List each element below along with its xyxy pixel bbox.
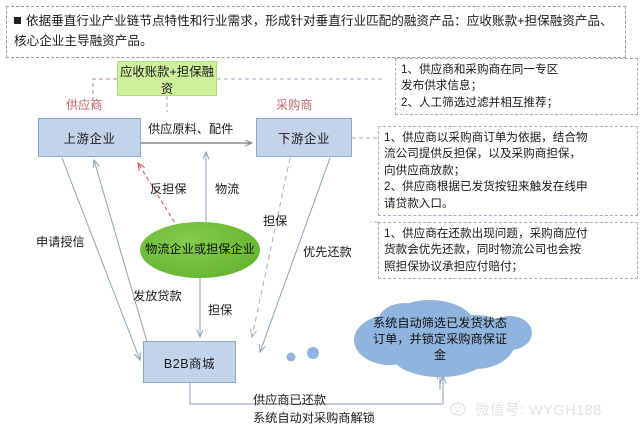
edge-label-issue-loan: 发放贷款: [133, 289, 182, 304]
note-lending-line-3: 向供应商放款；: [384, 163, 633, 179]
node-downstream-enterprise: 下游企业: [256, 118, 352, 157]
cloud-bubble-small: [287, 353, 296, 362]
node-b2b-mall: B2B商城: [143, 341, 236, 383]
watermark-text: 微信号: WYGH188: [475, 399, 602, 420]
edge-label-supply-material: 供应原料、配件: [148, 122, 233, 137]
note-matching-line-1: 1、供应商和采购商在同一专区: [401, 62, 633, 78]
bottom-note-line-2: 系统自动对采购商解锁: [253, 410, 375, 428]
wechat-icon: [450, 402, 470, 418]
node-logistics-guarantee: 物流企业或担保企业: [140, 222, 260, 278]
node-upstream-enterprise: 上游企业: [38, 118, 141, 157]
product-box-label: 应收账款+担保融资: [120, 65, 214, 96]
node-b2b-label: B2B商城: [164, 353, 215, 372]
note-matching: 1、供应商和采购商在同一专区 发布供求信息； 2、人工筛选过滤并相互推荐；: [395, 58, 638, 115]
note-lending-line-4: 2、供应商根据已发货按钮来触发在线申: [384, 179, 633, 195]
product-box: 应收账款+担保融资: [117, 61, 217, 96]
note-lending-line-1: 1、供应商以采购商订单为依据，结合物: [384, 130, 633, 146]
bottom-note: 供应商已还款 系统自动对采购商解锁: [253, 392, 375, 427]
note-repayment: 1、供应商在还款出现问题，采购商应付 货款会优先还款，同时物流公司也会按 照担保…: [378, 222, 638, 279]
edge-label-guarantee-down: 担保: [208, 303, 232, 318]
diagram-page: 依据垂直行业产业链节点特性和行业需求，形成针对垂直行业匹配的融资产品：应收账款+…: [0, 0, 640, 437]
note-lending-line-5: 请贷款入口。: [384, 196, 633, 212]
node-upstream-label: 上游企业: [63, 128, 115, 147]
cloud-callout: 系统自动筛选已发货状态订单，并锁定采购商保证金: [345, 300, 535, 380]
note-lending-line-2: 流公司提供反担保，以及采购商担保，: [384, 146, 633, 162]
bottom-note-line-1: 供应商已还款: [253, 392, 375, 410]
note-repayment-line-3: 照担保协议承担应付赔付；: [384, 259, 633, 275]
node-logistics-label: 物流企业或担保企业: [145, 242, 255, 257]
note-lending: 1、供应商以采购商订单为依据，结合物 流公司提供反担保，以及采购商担保， 向供应…: [378, 126, 638, 216]
note-matching-line-3: 2、人工筛选过滤并相互推荐；: [401, 95, 633, 111]
edge-label-logistics: 物流: [215, 182, 239, 197]
edge-label-apply-credit: 申请授信: [36, 235, 85, 250]
node-downstream-label: 下游企业: [278, 128, 330, 147]
note-repayment-line-2: 货款会优先还款，同时物流公司也会按: [384, 242, 633, 258]
role-label-supplier: 供应商: [66, 98, 103, 113]
edge-label-counter-guarantee: 反担保: [150, 182, 187, 197]
note-repayment-line-1: 1、供应商在还款出现问题，采购商应付: [384, 226, 633, 242]
cloud-callout-text: 系统自动筛选已发货状态订单，并锁定采购商保证金: [345, 300, 535, 380]
cloud-bubble-medium: [307, 347, 319, 359]
edge-label-guarantee-right: 担保: [263, 214, 287, 229]
role-label-purchaser: 采购商: [276, 98, 313, 113]
edge-label-priority-repay: 优先还款: [303, 245, 352, 260]
note-matching-line-2: 发布供求信息；: [401, 78, 633, 94]
watermark: 微信号: WYGH188: [450, 399, 602, 420]
